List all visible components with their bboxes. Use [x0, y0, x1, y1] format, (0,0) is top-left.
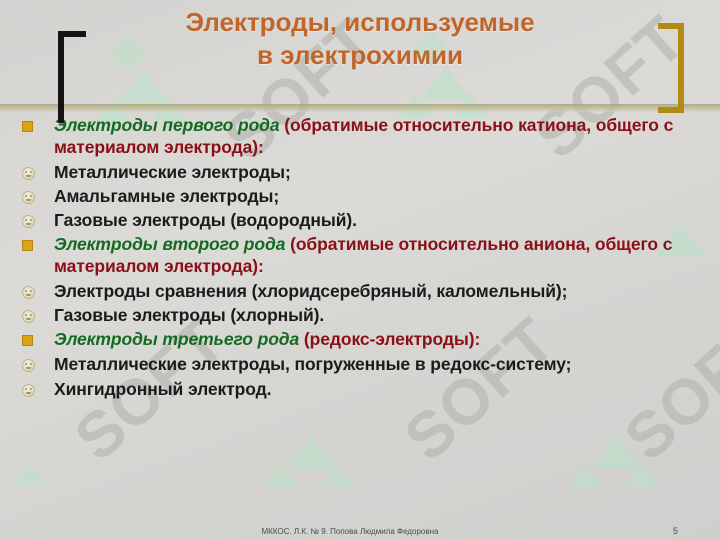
heading-emphasis: Электроды первого рода: [54, 115, 280, 135]
page-title-line-2: в электрохимии: [60, 39, 660, 72]
face-bullet-icon: [22, 215, 35, 228]
watermark-chevron-icon: [568, 464, 602, 487]
presentation-slide: SOFT SOFT SOFT SOFT SOFT Электроды, испо…: [0, 0, 720, 540]
square-bullet-icon: [22, 335, 33, 346]
watermark-chevron-icon: [320, 464, 354, 487]
slide-number: 5: [673, 526, 678, 536]
watermark-chevron-icon: [286, 436, 338, 470]
watermark-chevron-icon: [590, 436, 642, 470]
list-item-heading: Электроды третьего рода (редокс-электрод…: [0, 328, 720, 350]
list-item: Газовые электроды (хлорный).: [0, 304, 720, 326]
heading-emphasis: Электроды третьего рода: [54, 329, 299, 349]
list-item-text: Металлические электроды, погруженные в р…: [54, 353, 571, 375]
face-bullet-icon: [22, 384, 35, 397]
decorative-bracket-left: [58, 31, 86, 123]
list-item-text: Электроды сравнения (хлоридсеребряный, к…: [54, 280, 567, 302]
heading-emphasis: Электроды второго рода: [54, 234, 285, 254]
face-bullet-icon: [22, 191, 35, 204]
square-bullet-icon: [22, 121, 33, 132]
face-bullet-icon: [22, 286, 35, 299]
list-item: Газовые электроды (водородный).: [0, 209, 720, 231]
square-bullet-icon: [22, 240, 33, 251]
list-item-text: Газовые электроды (хлорный).: [54, 304, 324, 326]
decorative-bracket-right: [658, 23, 684, 113]
watermark-chevron-icon: [264, 464, 298, 487]
page-title: Электроды, используемые в электрохимии: [60, 6, 660, 72]
watermark-chevron-icon: [624, 464, 658, 487]
face-bullet-icon: [22, 167, 35, 180]
title-divider-rule: [0, 104, 720, 112]
list-item-text: Амальгамные электроды;: [54, 185, 279, 207]
list-item-text: Газовые электроды (водородный).: [54, 209, 357, 231]
list-item-heading: Электроды первого рода (обратимые относи…: [0, 114, 720, 158]
list-item-heading: Электроды второго рода (обратимые относи…: [0, 233, 720, 277]
heading-remainder: (редокс-электроды):: [299, 329, 480, 349]
footer-note: МККОС. Л.К. № 9. Попова Людмила Федоровн…: [210, 526, 490, 538]
list-item: Электроды сравнения (хлоридсеребряный, к…: [0, 280, 720, 302]
list-item-text: Электроды второго рода (обратимые относи…: [54, 233, 706, 277]
list-item-text: Металлические электроды;: [54, 161, 291, 183]
face-bullet-icon: [22, 310, 35, 323]
face-bullet-icon: [22, 359, 35, 372]
slide-body: Электроды первого рода (обратимые относи…: [0, 114, 720, 402]
list-item: Металлические электроды, погруженные в р…: [0, 353, 720, 375]
list-item: Хингидронный электрод.: [0, 378, 720, 400]
list-item-text: Электроды третьего рода (редокс-электрод…: [54, 328, 480, 350]
page-title-line-1: Электроды, используемые: [60, 6, 660, 39]
list-item-text: Электроды первого рода (обратимые относи…: [54, 114, 706, 158]
list-item: Металлические электроды;: [0, 161, 720, 183]
watermark-chevron-icon: [12, 462, 46, 485]
list-item: Амальгамные электроды;: [0, 185, 720, 207]
list-item-text: Хингидронный электрод.: [54, 378, 271, 400]
